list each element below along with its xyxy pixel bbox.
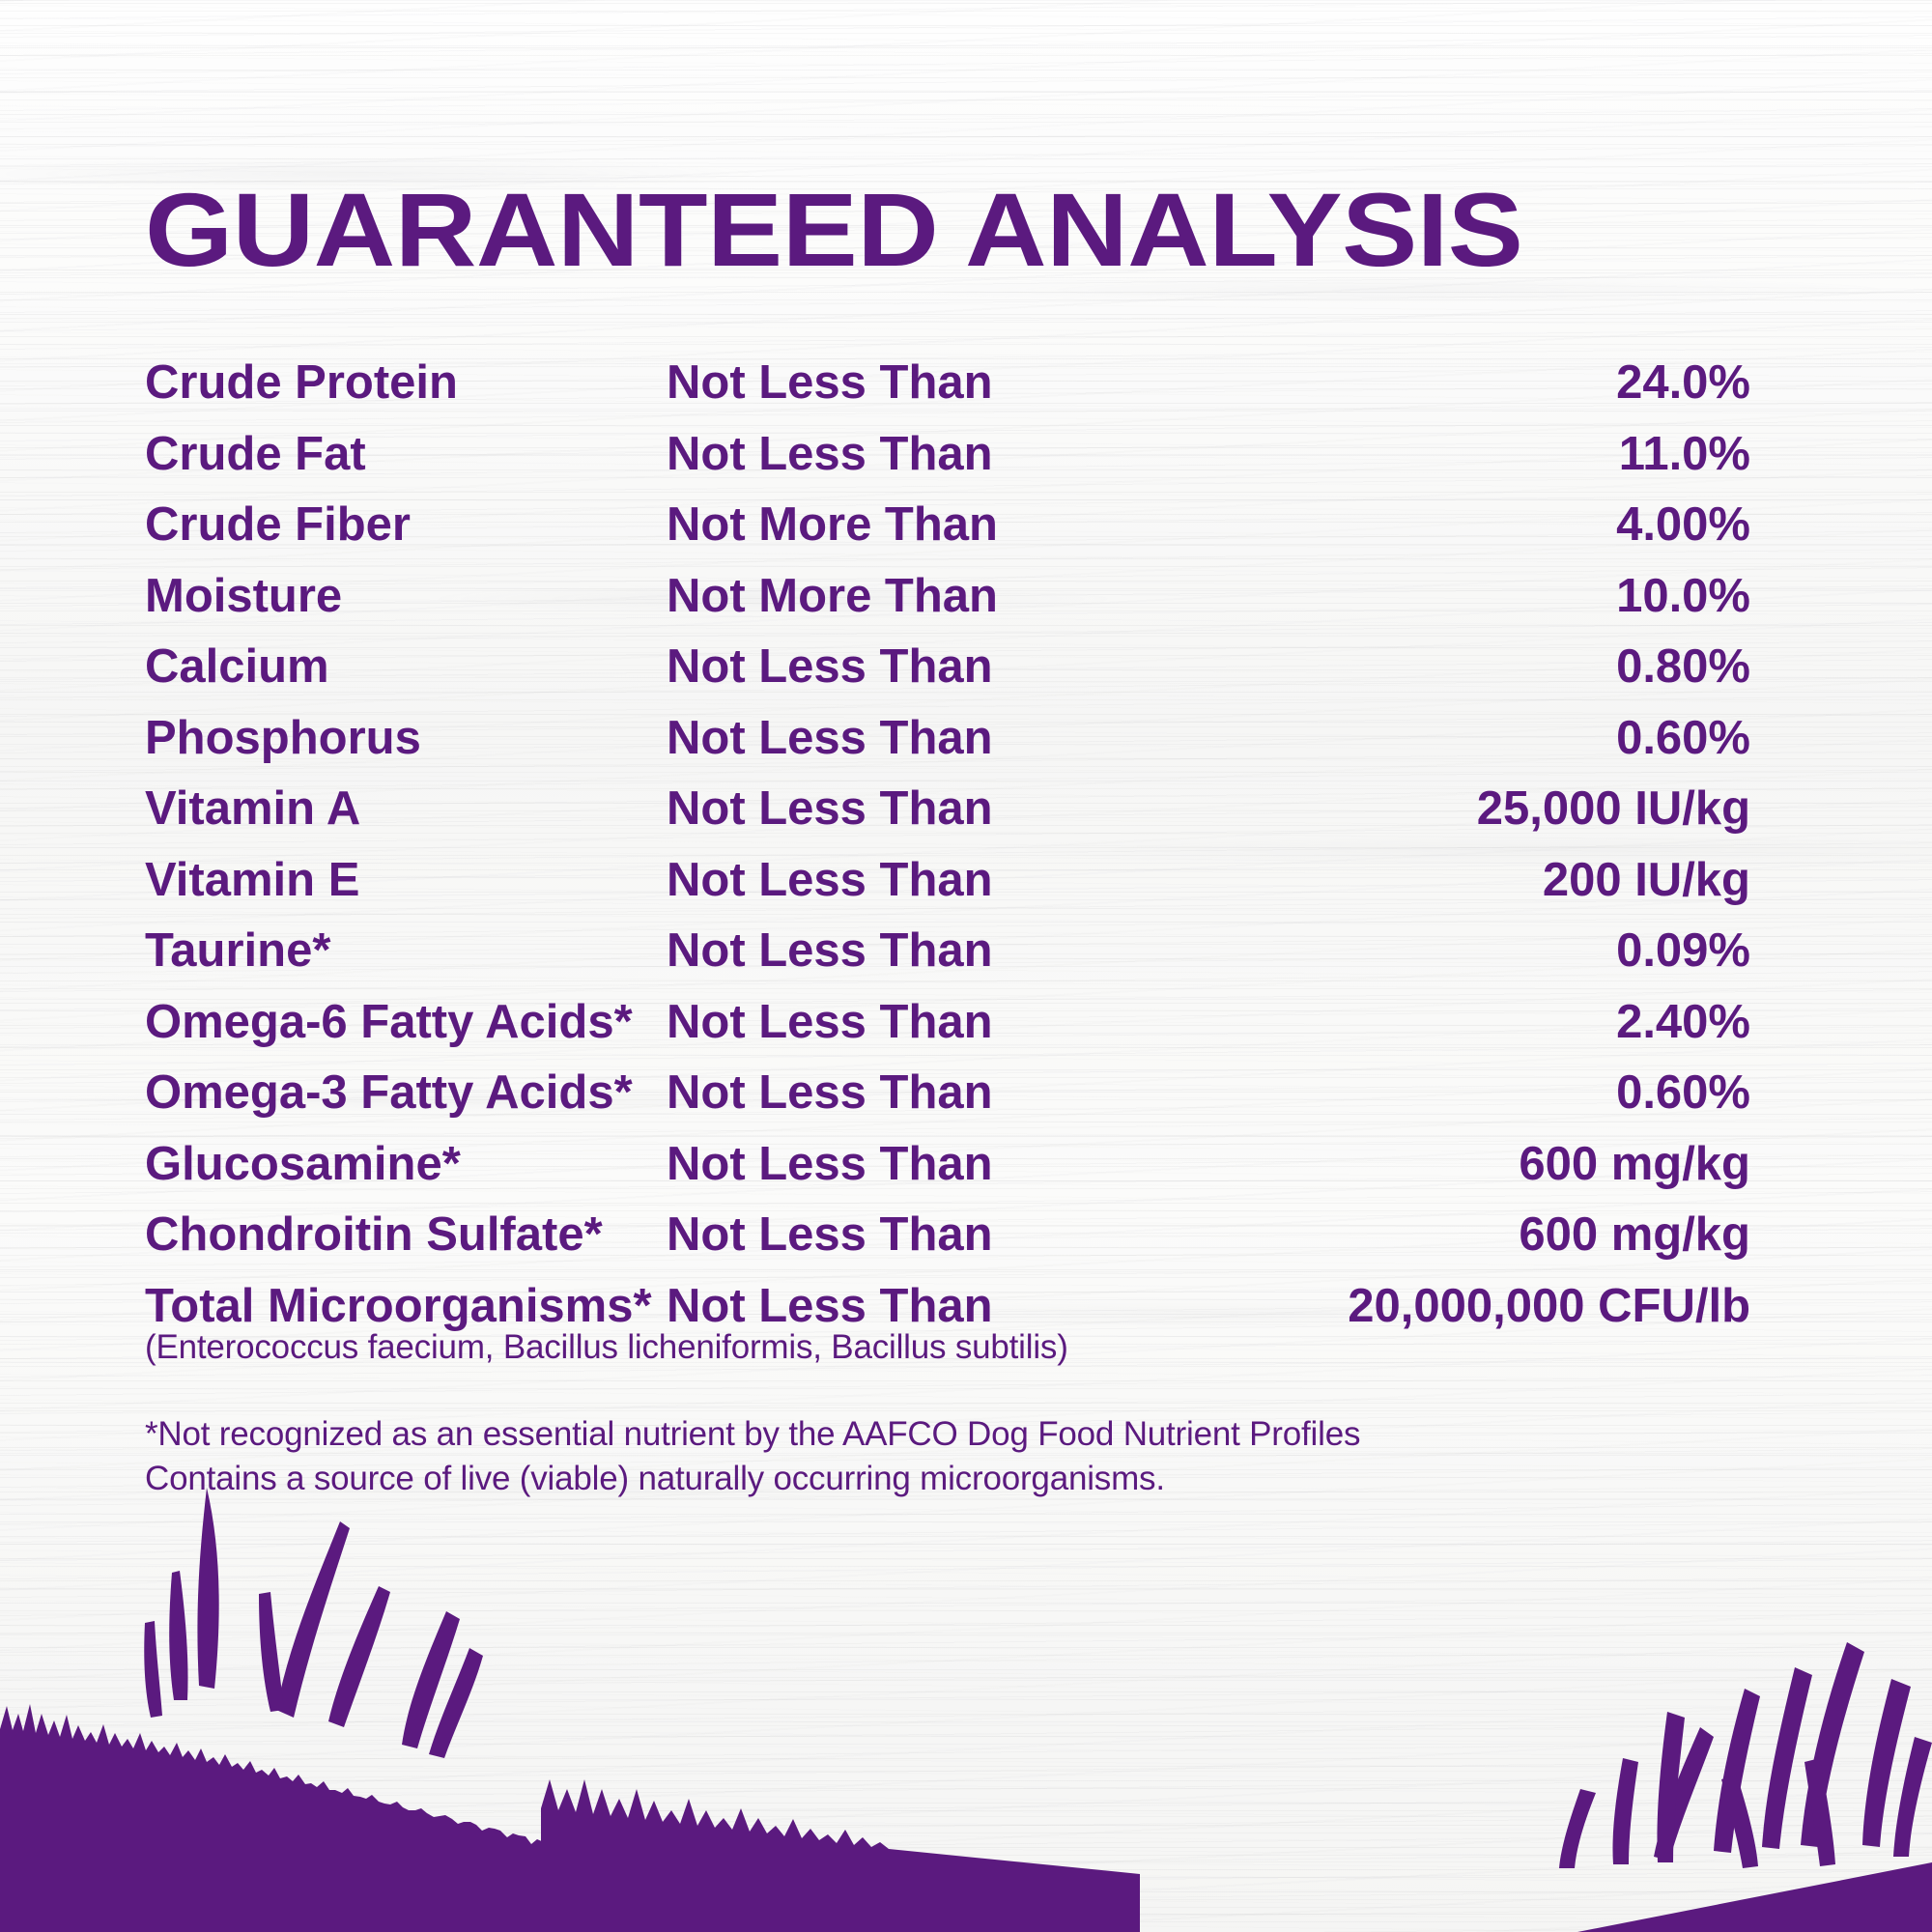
qualifier-label: Not Less Than [667,857,1053,904]
page-title: GUARANTEED ANALYSIS [145,178,1927,282]
nutrient-label: Vitamin E [145,857,667,904]
table-row: Omega-6 Fatty Acids*Not Less Than2.40% [145,999,1787,1070]
nutrient-label: Chondroitin Sulfate* [145,1211,667,1259]
nutrient-label: Total Microorganisms* [145,1283,667,1330]
nutrient-label: Moisture [145,573,667,620]
qualifier-label: Not More Than [667,573,1053,620]
table-row: Crude FatNot Less Than11.0% [145,431,1787,502]
nutrient-label: Vitamin A [145,785,667,833]
table-row: Vitamin ANot Less Than25,000 IU/kg [145,785,1787,857]
table-row: Vitamin ENot Less Than200 IU/kg [145,857,1787,928]
nutrient-value: 0.09% [1053,927,1787,975]
nutrient-value: 600 mg/kg [1053,1141,1787,1188]
qualifier-label: Not Less Than [667,643,1053,691]
qualifier-label: Not Less Than [667,1069,1053,1117]
table-row: Chondroitin Sulfate*Not Less Than600 mg/… [145,1211,1787,1283]
table-row: Crude FiberNot More Than4.00% [145,501,1787,573]
qualifier-label: Not Less Than [667,431,1053,478]
table-row: Omega-3 Fatty Acids*Not Less Than0.60% [145,1069,1787,1141]
guaranteed-analysis-panel: GUARANTEED ANALYSIS Crude ProteinNot Les… [0,0,1932,1932]
qualifier-label: Not Less Than [667,785,1053,833]
nutrient-label: Crude Fat [145,431,667,478]
qualifier-label: Not Less Than [667,999,1053,1046]
nutrient-value: 11.0% [1053,431,1787,478]
nutrient-value: 4.00% [1053,501,1787,549]
nutrient-label: Crude Protein [145,359,667,407]
nutrient-value: 0.60% [1053,715,1787,762]
nutrient-label: Omega-6 Fatty Acids* [145,999,667,1046]
table-row: Glucosamine*Not Less Than600 mg/kg [145,1141,1787,1212]
nutrient-label: Taurine* [145,927,667,975]
nutrient-value: 25,000 IU/kg [1053,785,1787,833]
table-row: Taurine*Not Less Than0.09% [145,927,1787,999]
table-row: PhosphorusNot Less Than0.60% [145,715,1787,786]
table-row: MoistureNot More Than10.0% [145,573,1787,644]
qualifier-label: Not Less Than [667,359,1053,407]
nutrient-label: Glucosamine* [145,1141,667,1188]
nutrient-value: 600 mg/kg [1053,1211,1787,1259]
table-row: Crude ProteinNot Less Than24.0% [145,359,1787,431]
qualifier-label: Not Less Than [667,1283,1053,1330]
qualifier-label: Not Less Than [667,1141,1053,1188]
microorganisms-note: (Enterococcus faecium, Bacillus lichenif… [145,1328,1068,1367]
nutrient-value: 200 IU/kg [1053,857,1787,904]
nutrient-value: 0.60% [1053,1069,1787,1117]
qualifier-label: Not More Than [667,501,1053,549]
nutrient-label: Crude Fiber [145,501,667,549]
guaranteed-analysis-table: Crude ProteinNot Less Than24.0%Crude Fat… [145,359,1787,1353]
nutrient-value: 0.80% [1053,643,1787,691]
nutrient-value: 24.0% [1053,359,1787,407]
nutrient-label: Phosphorus [145,715,667,762]
nutrient-value: 10.0% [1053,573,1787,620]
table-row: CalciumNot Less Than0.80% [145,643,1787,715]
nutrient-value: 20,000,000 CFU/lb [1053,1283,1787,1330]
grass-silhouette [0,1468,1932,1932]
footnote-line-1: *Not recognized as an essential nutrient… [145,1412,1845,1457]
qualifier-label: Not Less Than [667,927,1053,975]
nutrient-label: Omega-3 Fatty Acids* [145,1069,667,1117]
qualifier-label: Not Less Than [667,715,1053,762]
nutrient-value: 2.40% [1053,999,1787,1046]
nutrient-label: Calcium [145,643,667,691]
qualifier-label: Not Less Than [667,1211,1053,1259]
